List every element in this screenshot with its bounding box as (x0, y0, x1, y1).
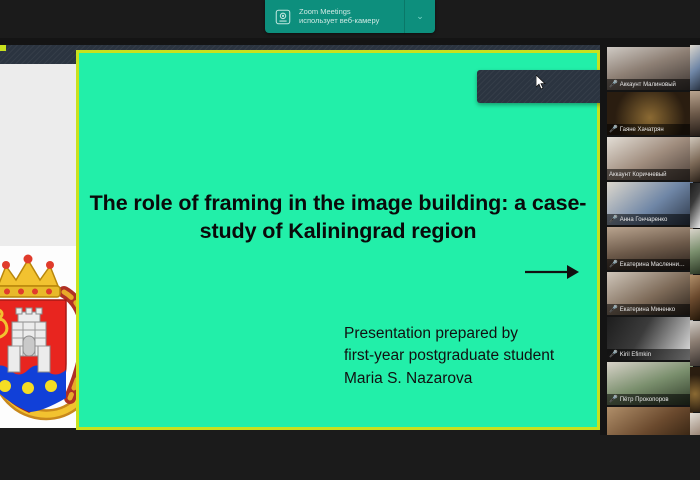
participant-name: Екатерина Миненко (620, 307, 675, 313)
toolbar-accent-mark (0, 45, 6, 51)
webcam-icon (273, 7, 293, 27)
mic-muted-icon: 🎤 (609, 351, 618, 358)
participant-tile-partial[interactable] (690, 367, 700, 412)
kaliningrad-coat-of-arms-icon (0, 246, 78, 428)
participant-name-bar: 🎤Гаяне Хачатрян (607, 124, 693, 135)
participant-name-bar: 🎤Екатерина Масленни… (607, 259, 693, 270)
participant-name-bar: Аккаунт Коричневый (607, 169, 693, 180)
participant-tile[interactable]: 🎤Екатерина Масленни… (607, 227, 693, 270)
window-bottom-area (0, 435, 700, 480)
participant-name: Аккаунт Малиновый (620, 82, 676, 88)
mic-muted-icon: 🎤 (609, 81, 618, 88)
notification-text: Zoom Meetings использует веб-камеру (299, 8, 404, 25)
participant-name: Аккаунт Коричневый (609, 172, 667, 178)
participant-tile-partial[interactable] (690, 275, 700, 320)
right-arrow-icon (523, 261, 581, 283)
participant-tile[interactable]: 🎤Екатерина Миненко (607, 272, 693, 315)
participant-name-bar: 🎤Kiril Efimkin (607, 349, 693, 360)
mic-muted-icon: 🎤 (609, 396, 618, 403)
notification-subtitle: использует веб-камеру (299, 17, 404, 26)
participant-tile[interactable]: Аккаунт Коричневый (607, 137, 693, 180)
mic-muted-icon: 🎤 (609, 126, 618, 133)
presentation-slide-frame: The role of framing in the image buildin… (76, 50, 600, 430)
participant-tile-partial[interactable] (690, 45, 700, 90)
participant-name: Анна Гончаренко (620, 217, 668, 223)
participant-tile-partial[interactable] (690, 183, 700, 228)
participant-tile[interactable]: 🎤Анна Гончаренко (607, 182, 693, 225)
participant-name-bar: 🎤Анна Гончаренко (607, 214, 693, 225)
mic-muted-icon: 🎤 (609, 261, 618, 268)
presentation-slide[interactable]: The role of framing in the image buildin… (79, 53, 597, 427)
participant-rail-edge-column (690, 45, 700, 435)
participant-tile-partial[interactable] (690, 137, 700, 182)
participant-name-bar: 🎤Пётр Прокопоров (607, 394, 693, 405)
participant-tile[interactable]: 🎤Дарья Богданова (607, 407, 693, 435)
participant-tile-partial[interactable] (690, 91, 700, 136)
mic-muted-icon: 🎤 (609, 216, 618, 223)
participant-name: Гаяне Хачатрян (620, 127, 664, 133)
mic-muted-icon: 🎤 (609, 306, 618, 313)
chevron-down-icon[interactable]: ⌄ (405, 0, 435, 33)
participant-name: Kiril Efimkin (620, 352, 651, 358)
participant-tile[interactable]: 🎤Гаяне Хачатрян (607, 92, 693, 135)
mouse-cursor-icon (536, 75, 546, 90)
slide-byline: Presentation prepared by first-year post… (344, 323, 554, 390)
participant-name-bar: 🎤Аккаунт Малиновый (607, 79, 693, 90)
participant-tile[interactable]: 🎤Kiril Efimkin (607, 317, 693, 360)
participant-video (607, 407, 693, 435)
zoom-camera-notification[interactable]: Zoom Meetings использует веб-камеру ⌄ (265, 0, 435, 33)
participant-tile[interactable]: 🎤Аккаунт Малиновый (607, 47, 693, 90)
participant-tile-partial[interactable] (690, 321, 700, 366)
participant-tile-partial[interactable] (690, 229, 700, 274)
participant-name: Екатерина Масленни… (620, 262, 685, 268)
window-top-strip (0, 38, 700, 45)
participant-name-bar: 🎤Екатерина Миненко (607, 304, 693, 315)
slide-title: The role of framing in the image buildin… (89, 190, 587, 245)
participant-tile[interactable]: 🎤Пётр Прокопоров (607, 362, 693, 405)
participant-tile-partial[interactable] (690, 413, 700, 435)
participant-name: Пётр Прокопоров (620, 397, 669, 403)
participant-video-rail[interactable]: 🎤Аккаунт Малиновый🎤Гаяне ХачатрянАккаунт… (600, 45, 700, 435)
